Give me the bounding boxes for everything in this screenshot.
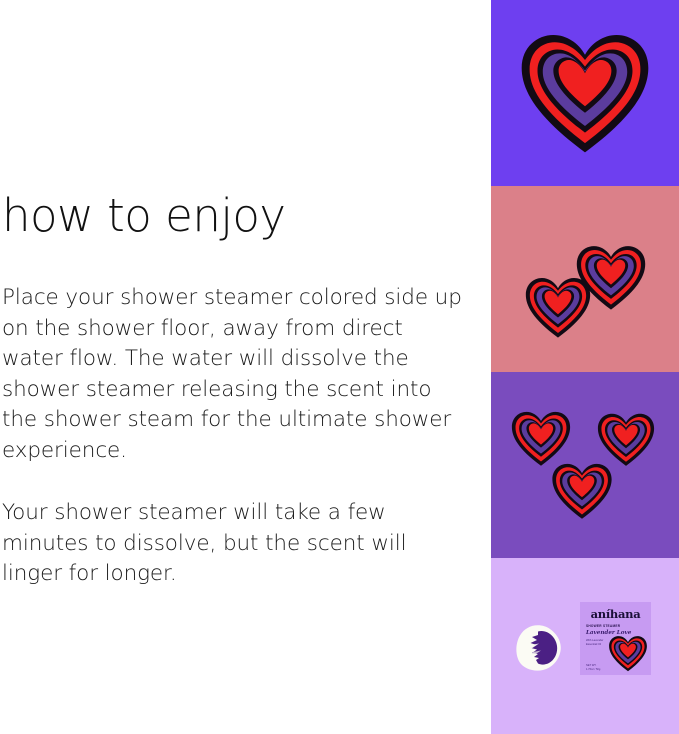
- product-category-label: SHOWER STEAMER: [586, 624, 645, 629]
- heart-icon: [575, 244, 647, 311]
- product-image-gallery: aníhana SHOWER STEAMER Lavender Love Wit…: [491, 0, 679, 734]
- shower-steamer-puck: [514, 623, 564, 673]
- gallery-panel-three-hearts: [491, 372, 679, 558]
- heart-icon: [596, 412, 656, 467]
- page-title: how to enjoy: [2, 190, 286, 242]
- instructions-column: how to enjoy Place your shower steamer c…: [0, 0, 470, 734]
- instructions-paragraph-2: Your shower steamer will take a few minu…: [2, 498, 464, 590]
- gallery-panel-two-hearts: [491, 186, 679, 372]
- heart-icon: [551, 462, 613, 520]
- product-description-page: how to enjoy Place your shower steamer c…: [0, 0, 679, 734]
- heart-icon: [518, 31, 652, 155]
- instructions-paragraph-1: Place your shower steamer colored side u…: [2, 283, 464, 467]
- heart-icon: [608, 635, 648, 672]
- brand-name: aníhana: [586, 608, 645, 620]
- product-package-box: aníhana SHOWER STEAMER Lavender Love Wit…: [580, 602, 651, 675]
- heart-icon: [510, 410, 572, 467]
- gallery-panel-large-heart: [491, 0, 679, 186]
- gallery-panel-product-shot: aníhana SHOWER STEAMER Lavender Love Wit…: [491, 558, 679, 734]
